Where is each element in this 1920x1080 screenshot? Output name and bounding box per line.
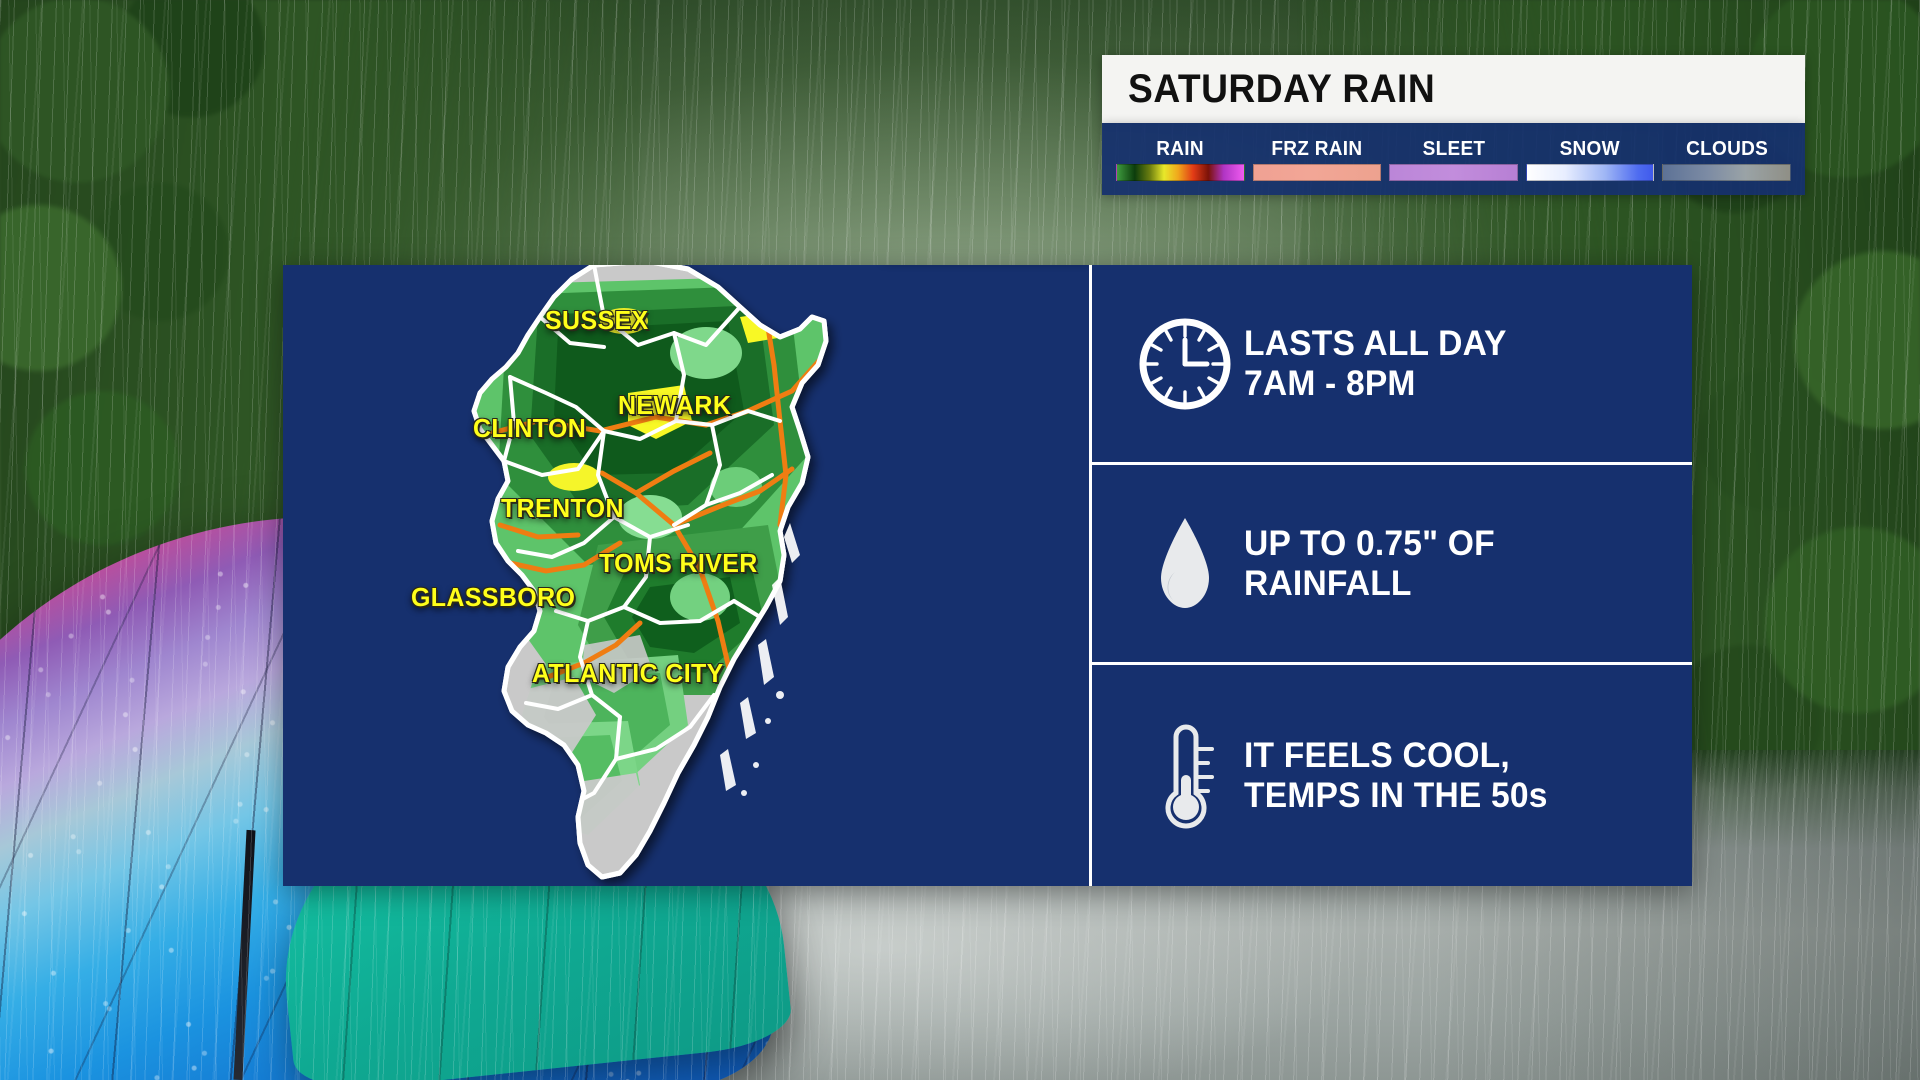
legend-item-snow: SNOW — [1526, 138, 1655, 161]
city-label-toms-river: TOMS RIVER — [599, 548, 758, 579]
legend-item-sleet: SLEET — [1389, 138, 1518, 161]
clock-icon — [1126, 314, 1244, 414]
duration-line-1: LASTS ALL DAY — [1244, 324, 1507, 364]
radar-map-container[interactable]: SAT 5:00PM — [283, 265, 1089, 886]
forecast-details: LASTS ALL DAY 7AM - 8PM UP TO 0.75" OF R… — [1092, 265, 1692, 886]
precipitation-legend: RAIN FRZ RAIN SLEET SNOW CLOUDS — [1102, 123, 1805, 195]
legend-label-frz-rain: FRZ RAIN — [1271, 138, 1362, 161]
legend-label-snow: SNOW — [1560, 138, 1620, 161]
rainfall-line-2: RAINFALL — [1244, 564, 1495, 604]
detail-row-duration: LASTS ALL DAY 7AM - 8PM — [1092, 265, 1692, 462]
page-title: SATURDAY RAIN — [1102, 69, 1435, 109]
city-label-glassboro: GLASSBORO — [411, 582, 575, 613]
city-label-sussex: SUSSEX — [545, 305, 649, 336]
title-card: SATURDAY RAIN — [1102, 55, 1805, 123]
detail-row-temperature: IT FEELS COOL, TEMPS IN THE 50s — [1092, 665, 1692, 886]
temperature-line-1: IT FEELS COOL, — [1244, 736, 1548, 776]
detail-text-temperature: IT FEELS COOL, TEMPS IN THE 50s — [1244, 736, 1548, 815]
legend-item-frz-rain: FRZ RAIN — [1253, 138, 1382, 161]
legend-bars-row — [1102, 164, 1805, 181]
detail-text-duration: LASTS ALL DAY 7AM - 8PM — [1244, 324, 1507, 403]
legend-item-clouds: CLOUDS — [1662, 138, 1791, 161]
rain-gradient-bar — [1116, 164, 1245, 181]
temperature-line-2: TEMPS IN THE 50s — [1244, 776, 1548, 816]
clouds-gradient-bar — [1662, 164, 1791, 181]
weather-graphic-stage: SATURDAY RAIN RAIN FRZ RAIN SLEET SNOW C… — [0, 0, 1920, 1080]
city-label-atlantic-city: ATLANTIC CITY — [532, 658, 724, 689]
legend-labels-row: RAIN FRZ RAIN SLEET SNOW CLOUDS — [1102, 138, 1805, 161]
frz-rain-gradient-bar — [1253, 164, 1382, 181]
city-label-trenton: TRENTON — [501, 493, 624, 524]
sleet-gradient-bar — [1389, 164, 1518, 181]
legend-label-clouds: CLOUDS — [1686, 138, 1768, 161]
snow-gradient-bar — [1526, 164, 1655, 181]
duration-line-2: 7AM - 8PM — [1244, 364, 1507, 404]
new-jersey-map: SUSSEX NEWARK CLINTON TRENTON TOMS RIVER… — [283, 265, 1089, 886]
water-drop-icon — [1126, 514, 1244, 614]
legend-label-sleet: SLEET — [1422, 138, 1485, 161]
legend-item-rain: RAIN — [1116, 138, 1245, 161]
city-label-newark: NEWARK — [618, 390, 731, 421]
city-label-clinton: CLINTON — [473, 413, 586, 444]
forecast-panel: SAT 5:00PM — [283, 265, 1692, 886]
detail-text-rainfall: UP TO 0.75" OF RAINFALL — [1244, 524, 1495, 603]
legend-label-rain: RAIN — [1157, 138, 1205, 161]
detail-row-rainfall: UP TO 0.75" OF RAINFALL — [1092, 465, 1692, 662]
rainfall-line-1: UP TO 0.75" OF — [1244, 524, 1495, 564]
thermometer-icon — [1126, 721, 1244, 831]
